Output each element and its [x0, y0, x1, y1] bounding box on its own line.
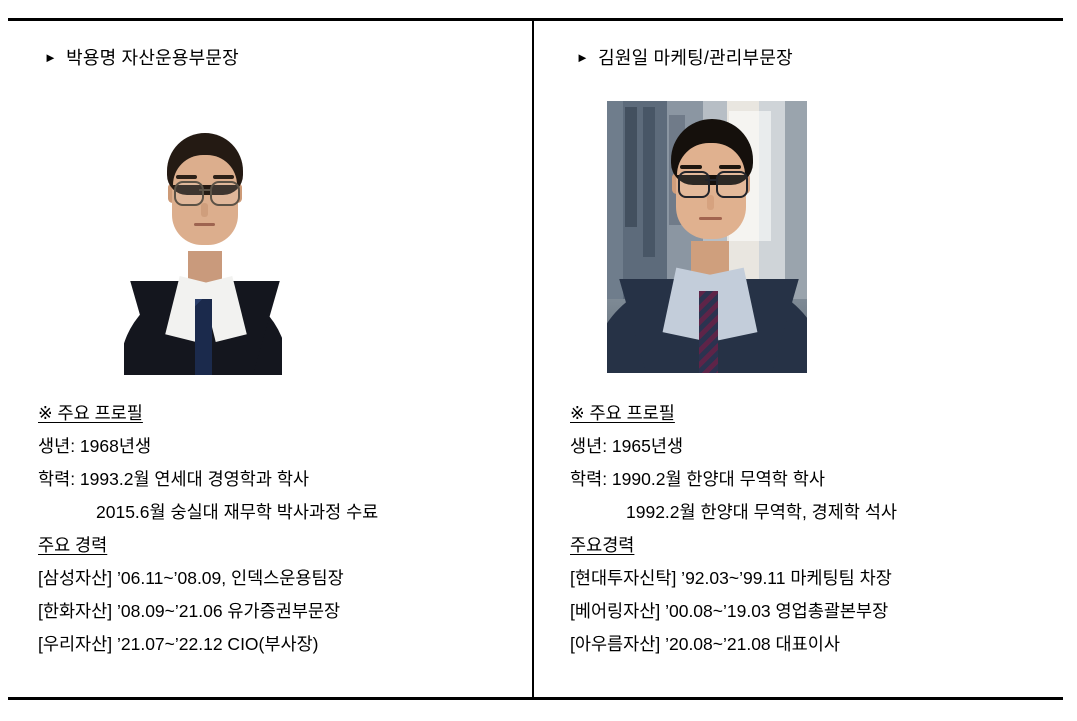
profile-line-birthyear-right: 생년: 1965년생 [570, 430, 1053, 463]
person-title-left: 박용명 자산운용부문장 [66, 48, 239, 68]
eyeglass-bridge-shape [705, 179, 717, 181]
career-line-3-right: [아우름자산] ’20.08~’21.08 대표이사 [570, 628, 1053, 661]
eyeglass-lens-right-shape [210, 181, 240, 206]
building-window-1-shape [625, 107, 637, 227]
page-root: ►박용명 자산운용부문장 [0, 0, 1077, 721]
eyeglass-lens-right-shape [716, 171, 748, 198]
portrait-photo-right [607, 101, 807, 373]
eyeglass-bridge-shape [199, 189, 211, 191]
triangle-bullet-icon: ► [576, 50, 589, 65]
profile-column-right: ►김원일 마케팅/관리부문장 [532, 21, 1063, 697]
portrait-photo-left [124, 103, 282, 375]
career-heading-left: 주요 경력 [38, 529, 522, 562]
profile-heading-left: ※ 주요 프로필 [38, 397, 522, 430]
profile-table: ►박용명 자산운용부문장 [8, 18, 1063, 700]
mouth-shape [194, 223, 215, 226]
career-line-1-left: [삼성자산] ’06.11~’08.09, 인덱스운용팀장 [38, 562, 522, 595]
eyebrow-right-shape [213, 175, 234, 179]
career-line-1-right: [현대투자신탁] ’92.03~’99.11 마케팅팀 차장 [570, 562, 1053, 595]
career-line-2-right: [베어링자산] ’00.08~’19.03 영업총괄본부장 [570, 595, 1053, 628]
eyebrow-right-shape [719, 165, 741, 169]
eyebrow-left-shape [680, 165, 702, 169]
necktie-shape [699, 291, 718, 373]
career-line-3-left: [우리자산] ’21.07~’22.12 CIO(부사장) [38, 628, 522, 661]
eyebrow-left-shape [176, 175, 197, 179]
mouth-shape [699, 217, 722, 220]
eyeglass-lens-left-shape [174, 181, 204, 206]
profile-line-birthyear-left: 생년: 1968년생 [38, 430, 522, 463]
profile-text-left: ※ 주요 프로필 생년: 1968년생 학력: 1993.2월 연세대 경영학과… [38, 397, 522, 661]
profile-line-education-1-right: 학력: 1990.2월 한양대 무역학 학사 [570, 463, 1053, 496]
profile-heading-right: ※ 주요 프로필 [570, 397, 1053, 430]
career-line-2-left: [한화자산] ’08.09~’21.06 유가증권부문장 [38, 595, 522, 628]
profile-line-education-1-left: 학력: 1993.2월 연세대 경영학과 학사 [38, 463, 522, 496]
eyeglass-lens-left-shape [678, 171, 710, 198]
triangle-bullet-icon: ► [44, 50, 57, 65]
profile-text-right: ※ 주요 프로필 생년: 1965년생 학력: 1990.2월 한양대 무역학 … [570, 397, 1053, 661]
profile-line-education-2-right: 1992.2월 한양대 무역학, 경제학 석사 [570, 496, 1053, 529]
profile-column-left: ►박용명 자산운용부문장 [8, 21, 532, 697]
building-window-2-shape [643, 107, 655, 257]
profile-line-education-2-left: 2015.6월 숭실대 재무학 박사과정 수료 [38, 496, 522, 529]
person-header-right: ►김원일 마케팅/관리부문장 [576, 44, 793, 70]
nose-shape [201, 203, 208, 217]
nose-shape [707, 195, 714, 210]
necktie-shape [195, 299, 212, 375]
person-title-right: 김원일 마케팅/관리부문장 [598, 48, 793, 68]
person-header-left: ►박용명 자산운용부문장 [44, 44, 239, 70]
career-heading-right: 주요경력 [570, 529, 1053, 562]
